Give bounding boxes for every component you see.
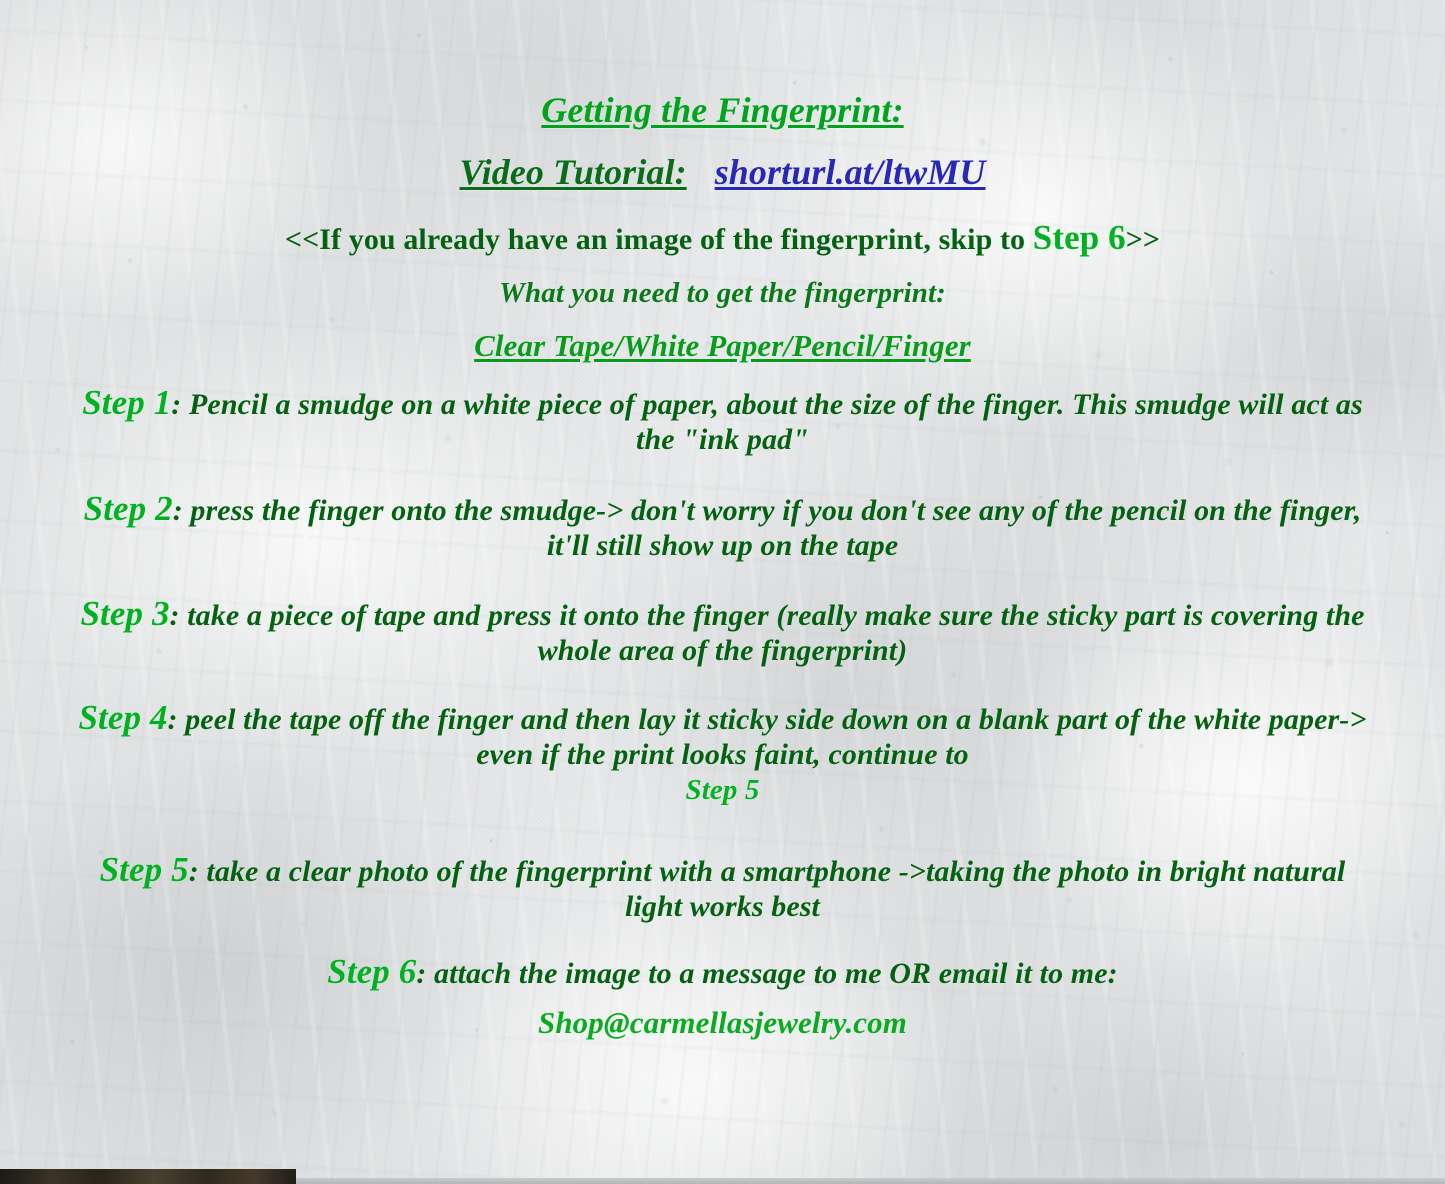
materials-list: Clear Tape/White Paper/Pencil/Finger <box>0 328 1445 363</box>
skip-note-step-highlight: Step 6 <box>1033 218 1126 257</box>
step-1-text: : Pencil a smudge on a white piece of pa… <box>171 388 1362 456</box>
page-title-text: Getting the Fingerprint: <box>541 90 903 130</box>
step-3: Step 3: take a piece of tape and press i… <box>0 594 1445 668</box>
step-1: Step 1: Pencil a smudge on a white piece… <box>0 383 1445 457</box>
step-5-tag: Step 5 <box>100 850 189 889</box>
step-4-tag: Step 4 <box>78 698 167 737</box>
video-tutorial-line: Video Tutorial:shorturl.at/ltwMU <box>0 152 1445 193</box>
step-2: Step 2: press the finger onto the smudge… <box>0 489 1445 563</box>
step-3-tag: Step 3 <box>80 594 169 633</box>
video-tutorial-label: Video Tutorial: <box>460 152 687 192</box>
bottom-dark-strip <box>0 1169 296 1184</box>
skip-note-before: <<If you already have an image of the fi… <box>285 223 1033 256</box>
step-6: Step 6: attach the image to a message to… <box>0 952 1445 1040</box>
poster-content: Getting the Fingerprint: Video Tutorial:… <box>0 0 1445 1184</box>
step-5: Step 5: take a clear photo of the finger… <box>0 850 1445 924</box>
contact-email[interactable]: Shop@carmellasjewelry.com <box>68 1005 1377 1040</box>
step-6-text: : attach the image to a message to me OR… <box>416 957 1117 990</box>
step-4-text: : peel the tape off the finger and then … <box>168 703 1367 771</box>
step-2-tag: Step 2 <box>84 489 173 528</box>
step-2-text: : press the finger onto the smudge-> don… <box>173 494 1362 562</box>
step-3-text: : take a piece of tape and press it onto… <box>170 599 1365 667</box>
fingerprint-instructions-poster: Getting the Fingerprint: Video Tutorial:… <box>0 0 1445 1184</box>
step-6-tag: Step 6 <box>327 952 416 991</box>
materials-heading: What you need to get the fingerprint: <box>0 277 1445 310</box>
step-4-continue-reference: Step 5 <box>68 774 1377 807</box>
step-1-tag: Step 1 <box>82 383 171 422</box>
video-tutorial-link[interactable]: shorturl.at/ltwMU <box>715 152 986 192</box>
step-5-text: : take a clear photo of the fingerprint … <box>189 855 1346 923</box>
page-title: Getting the Fingerprint: <box>0 90 1445 131</box>
step-4: Step 4: peel the tape off the finger and… <box>0 698 1445 807</box>
skip-note: <<If you already have an image of the fi… <box>0 218 1445 258</box>
skip-note-after: >> <box>1126 223 1160 256</box>
